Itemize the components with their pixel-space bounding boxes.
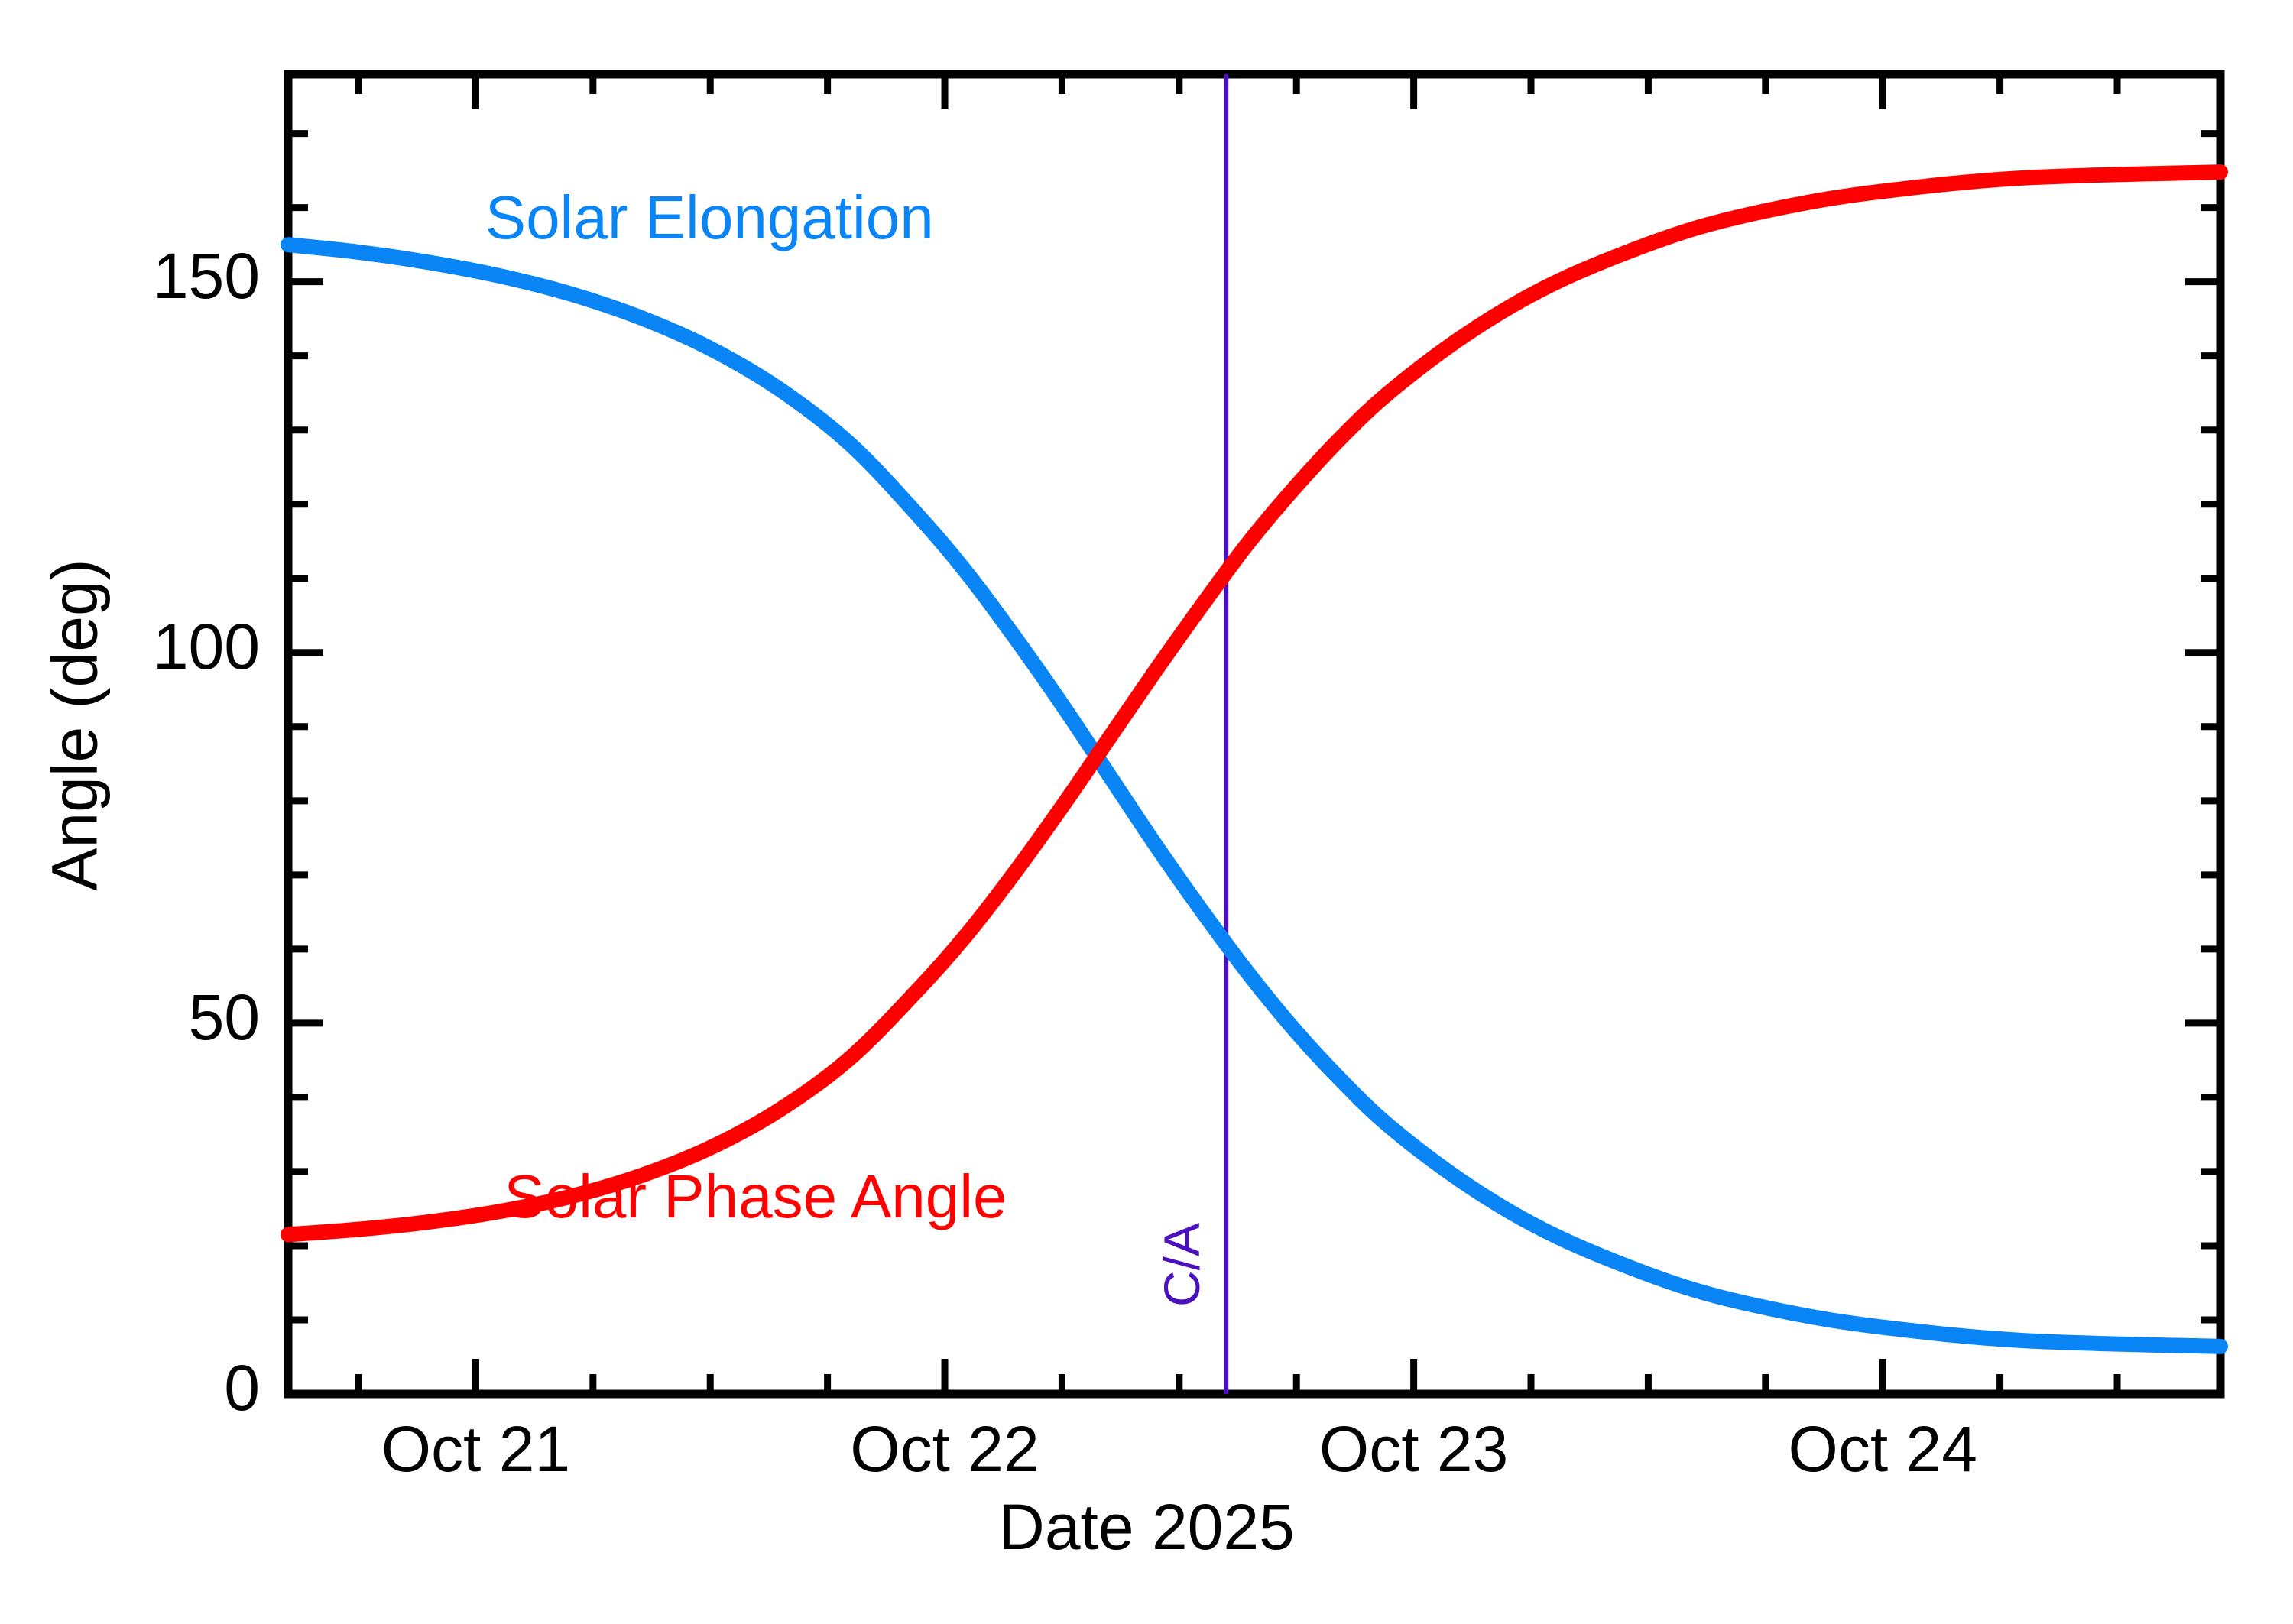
- y-tick-label: 150: [153, 239, 260, 313]
- x-tick-label: Oct 24: [1788, 1412, 1977, 1486]
- y-tick-label: 100: [153, 610, 260, 684]
- series-line-solar-phase-angle: [288, 172, 2220, 1234]
- y-tick-label: 0: [224, 1351, 260, 1425]
- y-tick-label: 50: [189, 981, 260, 1055]
- chart-figure: Angle (deg) Date 2025 050100150Oct 21Oct…: [0, 0, 2293, 1624]
- x-tick-label: Oct 23: [1319, 1412, 1508, 1486]
- close-approach-label: C/A: [1153, 1223, 1211, 1307]
- plot-area: [0, 0, 2293, 1624]
- series-label-solar-elongation: Solar Elongation: [485, 183, 934, 253]
- x-tick-label: Oct 22: [850, 1412, 1039, 1486]
- x-tick-label: Oct 21: [381, 1412, 570, 1486]
- series-label-solar-phase-angle: Solar Phase Angle: [504, 1162, 1007, 1232]
